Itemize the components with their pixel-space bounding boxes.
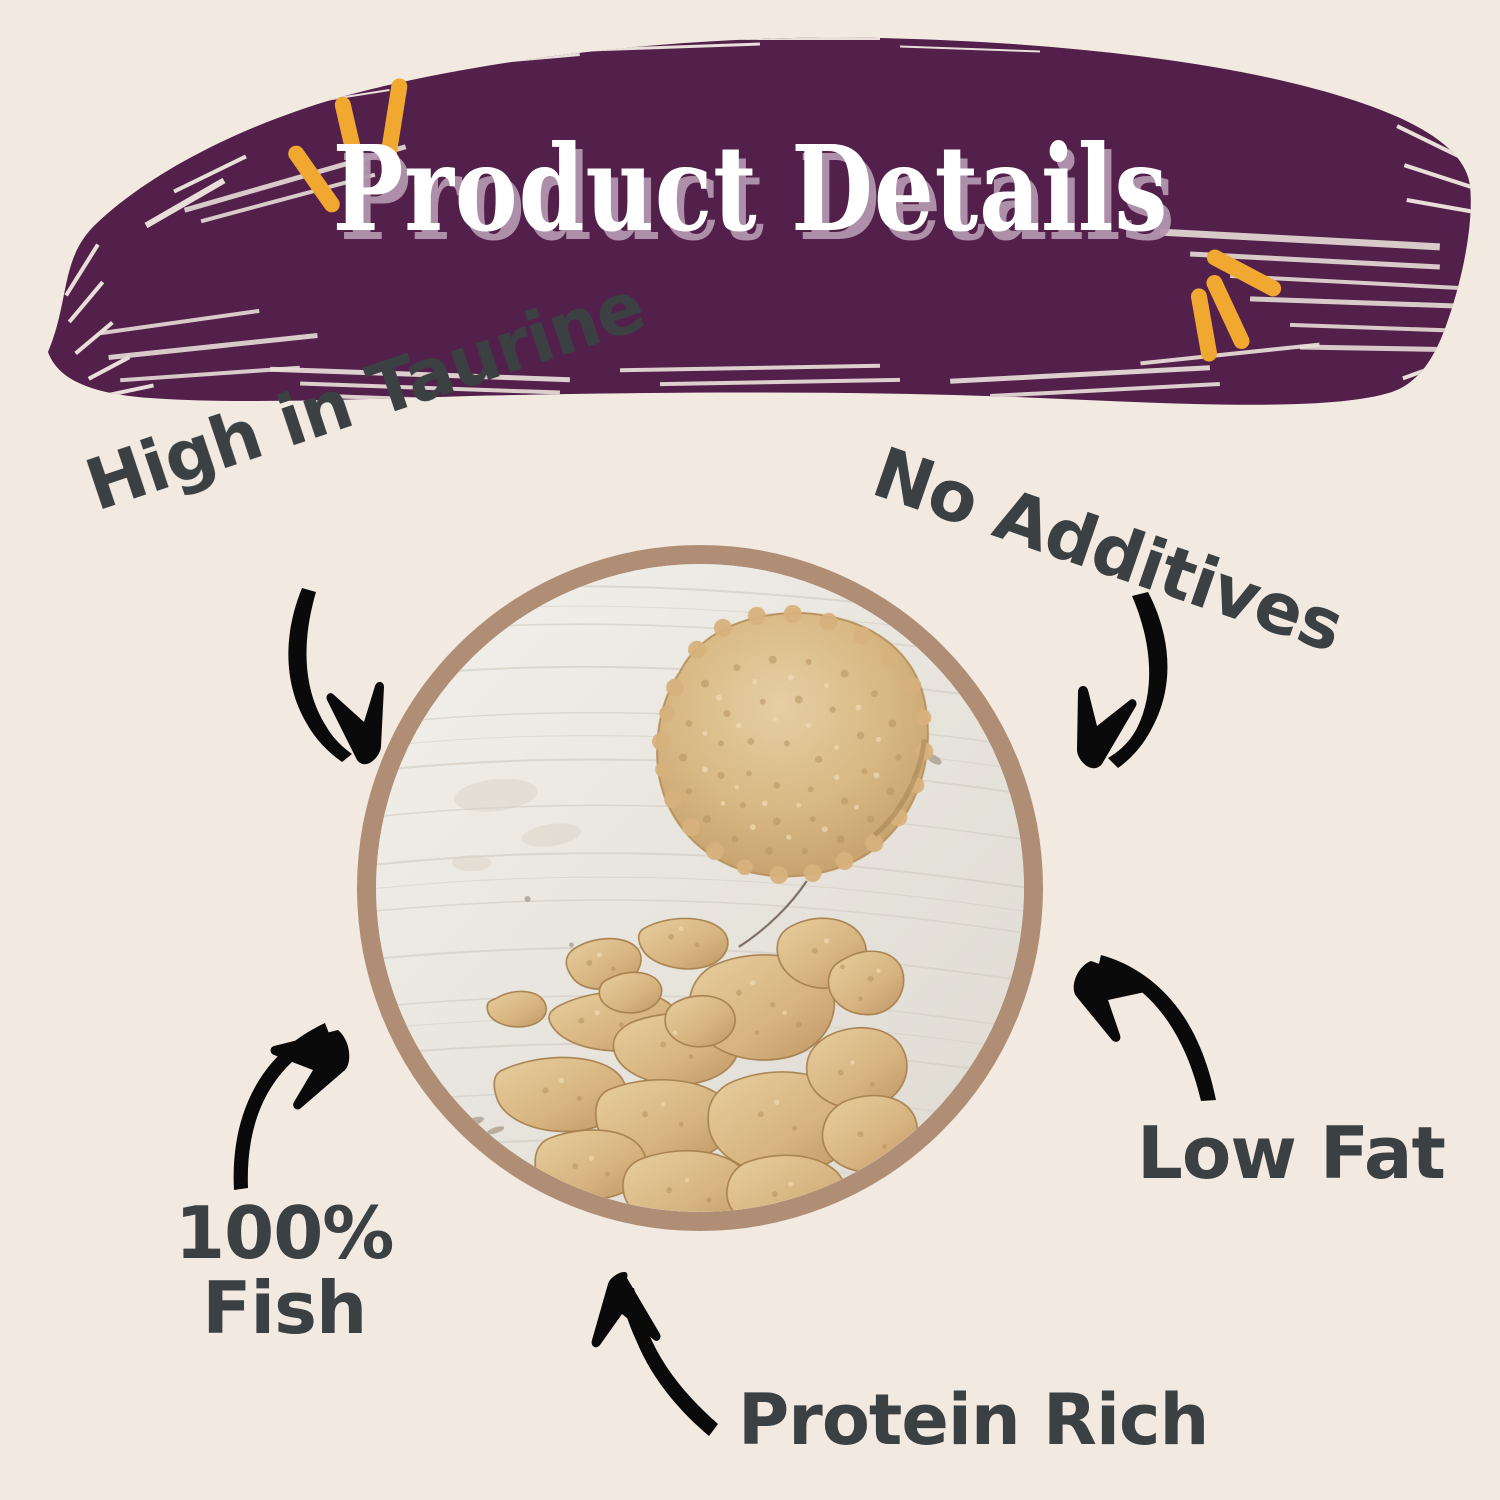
arrow-no-additives-icon <box>1077 592 1167 768</box>
feature-label-protein-rich: Protein Rich <box>738 1385 1208 1456</box>
feature-label-100-percent-fish: 100% Fish <box>175 1196 393 1346</box>
feature-label-low-fat: Low Fat <box>1137 1117 1445 1190</box>
product-photo-circle <box>357 545 1043 1231</box>
arrow-high-in-taurine-icon <box>288 588 384 764</box>
header-brush-banner <box>0 0 1500 430</box>
poster-canvas: Product Details <box>0 0 1500 1500</box>
feature-label-line1: 100% <box>175 1196 393 1271</box>
product-photo <box>376 564 1024 1212</box>
arrow-protein-rich-icon <box>592 1272 718 1436</box>
arrow-low-fat-icon <box>1074 955 1216 1101</box>
feature-label-no-additives: No Additives <box>865 437 1351 664</box>
feature-label-line2: Fish <box>175 1271 393 1346</box>
arrow-100-percent-fish-icon <box>234 1023 350 1190</box>
